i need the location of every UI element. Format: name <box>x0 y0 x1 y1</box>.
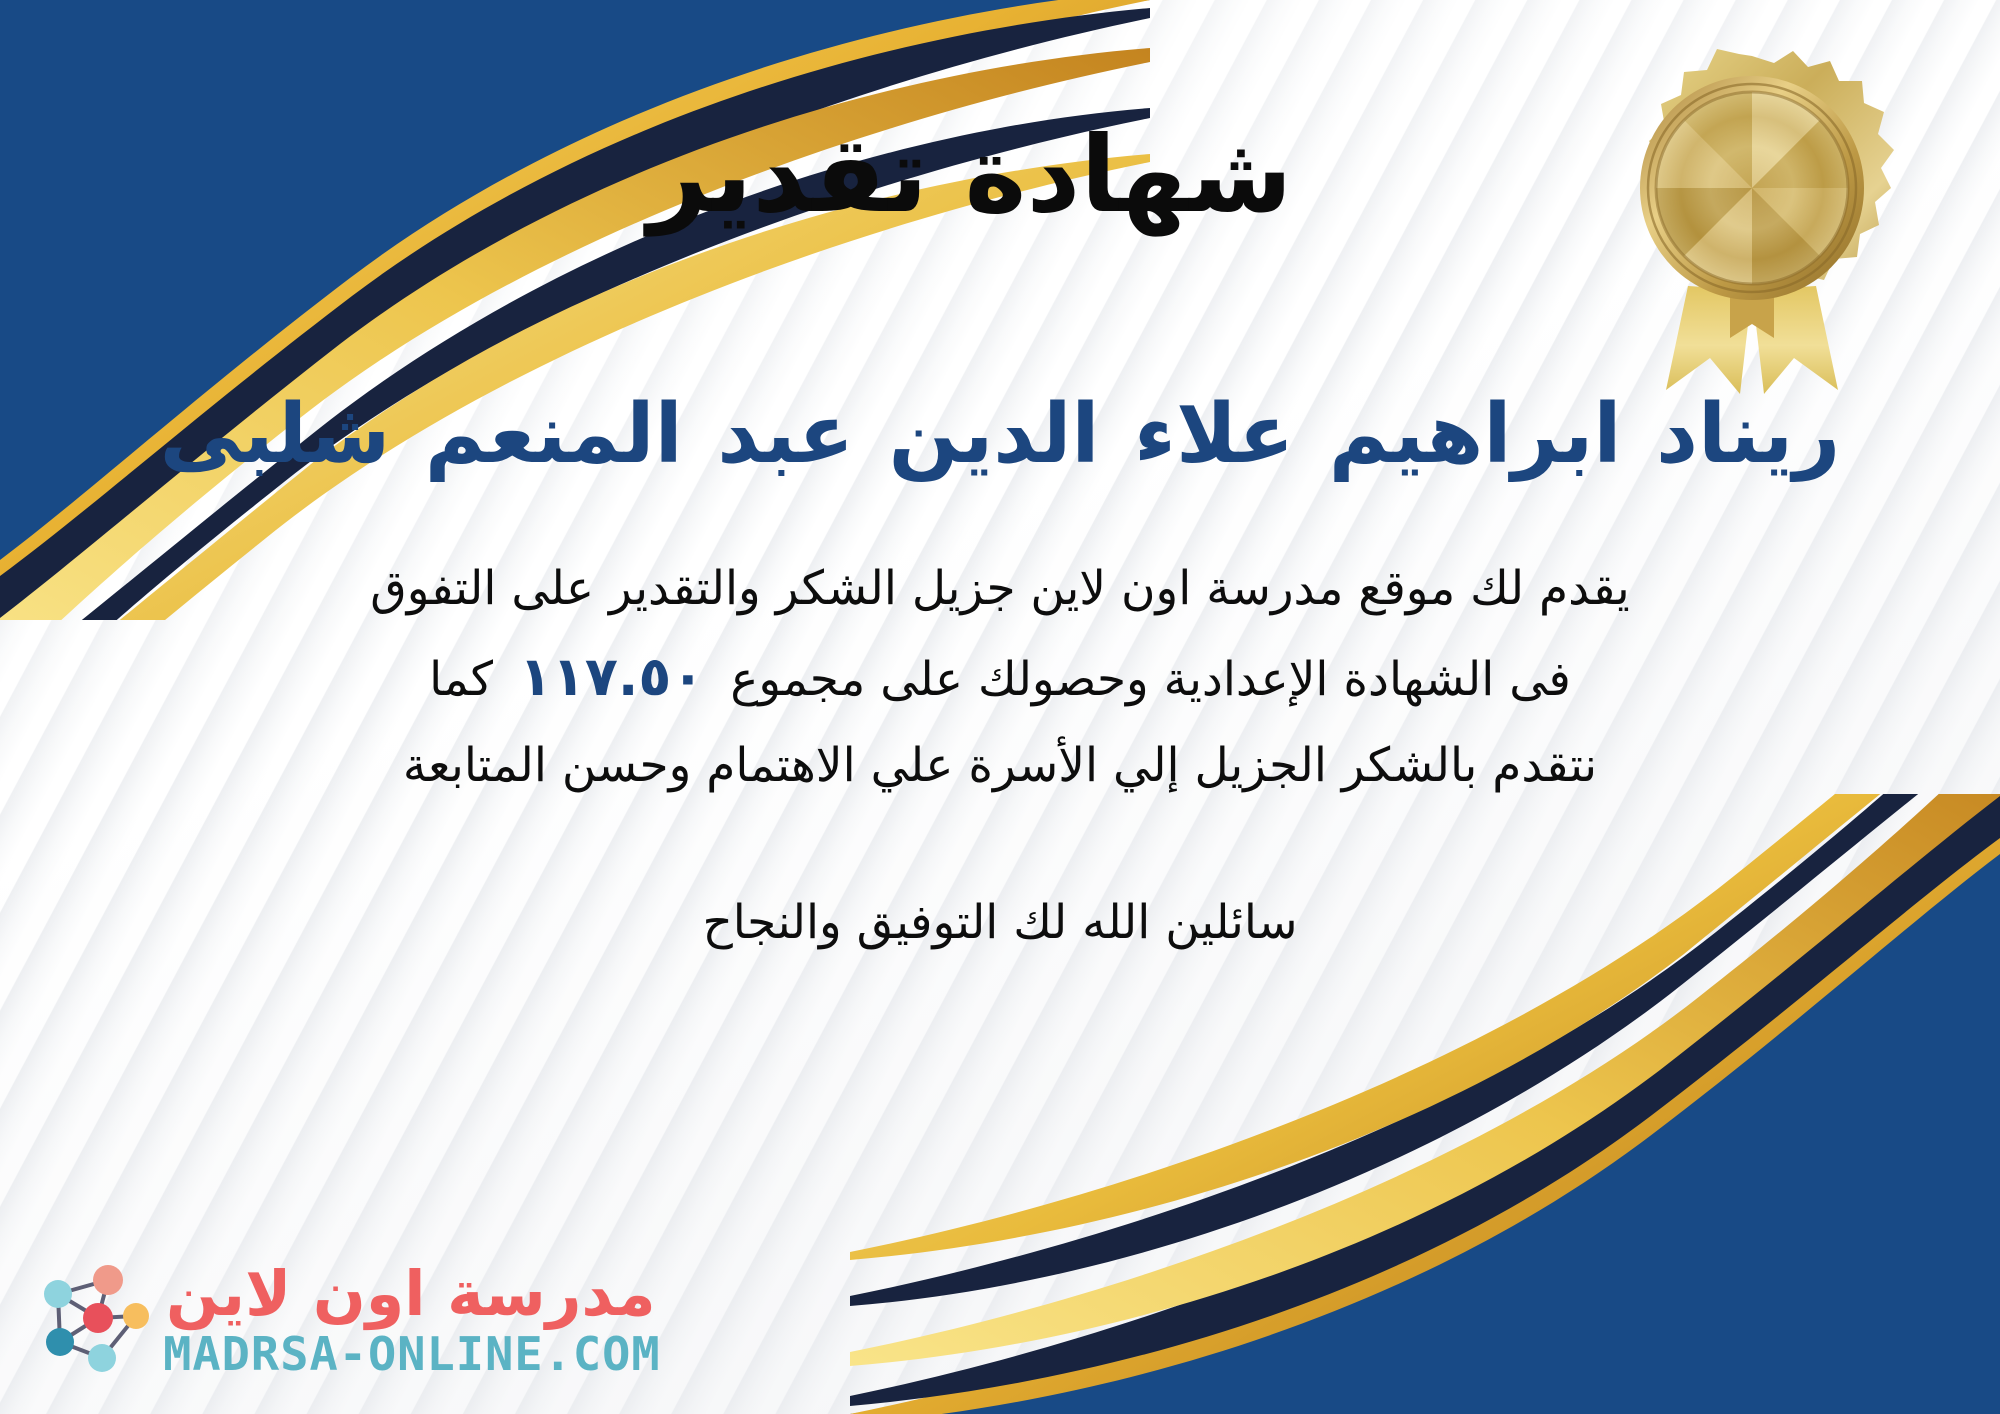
gold-award-rosette-icon <box>1592 38 1912 398</box>
body-line-2-suffix: كما <box>429 652 493 707</box>
certificate-body-text: يقدم لك موقع مدرسة اون لاين جزيل الشكر و… <box>150 548 1850 807</box>
brand-arabic-name: مدرسة اون لاين <box>166 1263 656 1325</box>
brand-logo[interactable]: مدرسة اون لاين MADRSA-ONLINE.COM <box>36 1260 656 1380</box>
brand-website-url: MADRSA-ONLINE.COM <box>163 1331 661 1377</box>
body-line-3: نتقدم بالشكر الجزيل إلي الأسرة علي الاهت… <box>150 725 1850 807</box>
brand-logo-text: مدرسة اون لاين MADRSA-ONLINE.COM <box>166 1263 656 1377</box>
certificate-canvas: شهادة تقدير ريناد ابراهيم علاء الدين عبد… <box>0 0 2000 1414</box>
body-line-1: يقدم لك موقع مدرسة اون لاين جزيل الشكر و… <box>150 548 1850 630</box>
recipient-name: ريناد ابراهيم علاء الدين عبد المنعم شلبى <box>60 384 1940 487</box>
network-nodes-icon <box>36 1260 156 1380</box>
body-line-2-prefix: فى الشهادة الإعدادية وحصولك على مجموع <box>730 652 1571 707</box>
closing-wish-line: سائلين الله لك التوفيق والنجاح <box>150 885 1850 960</box>
body-line-2: فى الشهادة الإعدادية وحصولك على مجموع١١٧… <box>150 630 1850 725</box>
total-score-value: ١١٧.٥٠ <box>493 645 730 708</box>
